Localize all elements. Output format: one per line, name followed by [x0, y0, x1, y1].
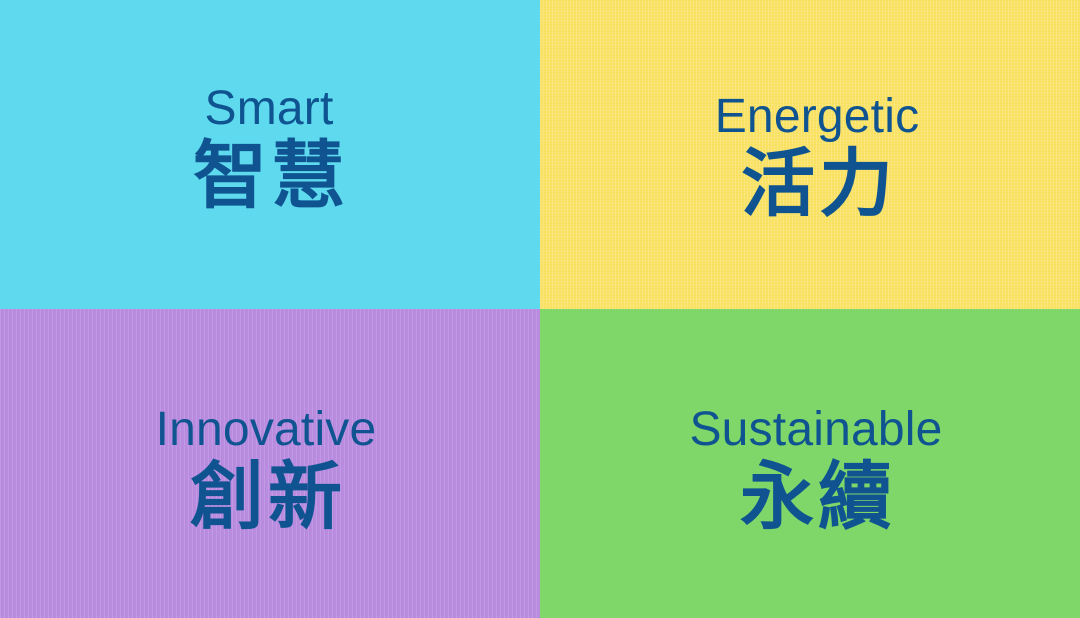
- panel-label-en: Sustainable: [689, 406, 942, 454]
- panel-label-zh: 智慧: [189, 139, 349, 213]
- panel-label-en: Energetic: [715, 93, 920, 141]
- panel-label-zh: 創新: [186, 460, 346, 534]
- panel-text-block: Energetic 活力: [715, 93, 920, 221]
- panel-sustainable[interactable]: Sustainable 永續: [540, 309, 1080, 618]
- panel-label-en: Smart: [204, 85, 333, 133]
- panel-innovative[interactable]: Innovative 創新: [0, 309, 540, 618]
- panel-text-block: Smart 智慧: [189, 85, 349, 213]
- panel-label-zh: 活力: [737, 147, 897, 221]
- panel-smart[interactable]: Smart 智慧: [0, 0, 540, 309]
- panel-energetic[interactable]: Energetic 活力: [540, 0, 1080, 309]
- panel-label-en: Innovative: [156, 406, 377, 454]
- panel-text-block: Sustainable 永續: [689, 406, 942, 534]
- brand-values-grid: Smart 智慧 Energetic 活力 Innovative 創新 Sust…: [0, 0, 1080, 618]
- panel-text-block: Innovative 創新: [156, 406, 377, 534]
- panel-label-zh: 永續: [736, 460, 896, 534]
